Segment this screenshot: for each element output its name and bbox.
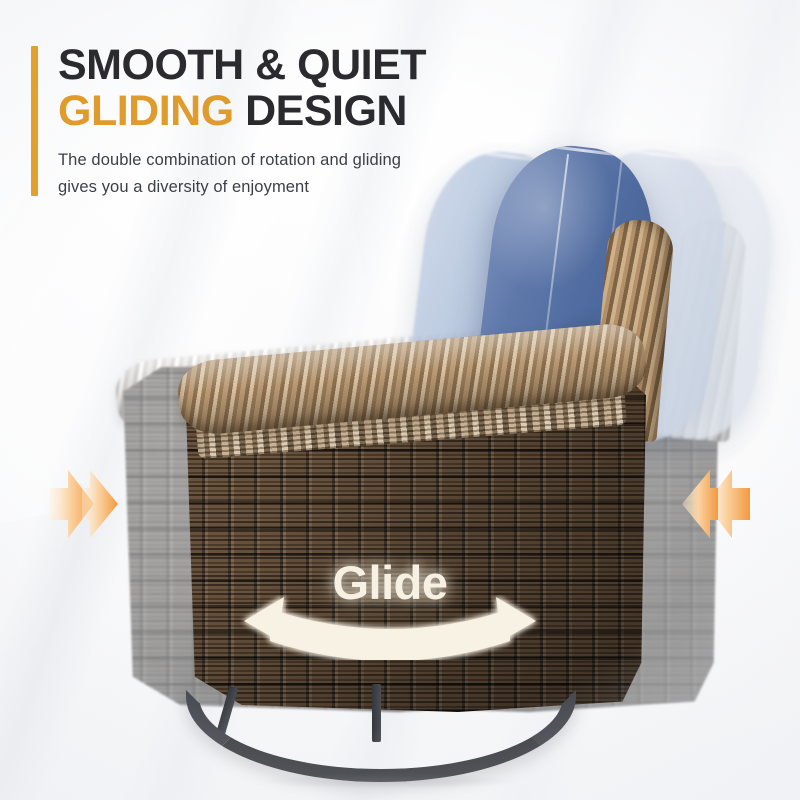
subtitle-line-2: gives you a diversity of enjoyment	[58, 174, 531, 201]
subtitle-line-1: The double combination of rotation and g…	[58, 147, 531, 174]
vertical-accent-bar	[31, 46, 38, 196]
subtitle: The double combination of rotation and g…	[58, 147, 531, 201]
headline-accent-word: GLIDING	[58, 87, 234, 135]
headline-line-1: SMOOTH & QUIET	[58, 42, 531, 88]
marketing-banner: Glide	[0, 0, 800, 800]
headline-line-2-rest: DESIGN	[234, 87, 407, 135]
headline-line-2: GLIDING DESIGN	[58, 88, 531, 134]
headline-block: SMOOTH & QUIET GLIDING DESIGN The double…	[31, 42, 531, 201]
